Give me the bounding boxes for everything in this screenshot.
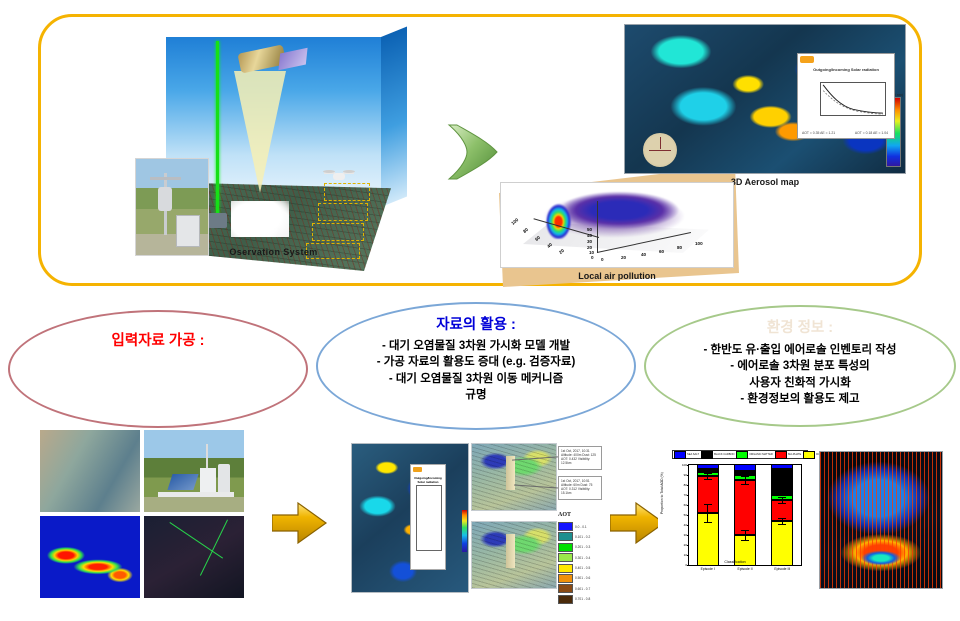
field-instrument-photo	[144, 430, 244, 512]
3d-aerosol-volume-render	[820, 452, 942, 588]
ellipse-body: - 한반도 유·출입 에어로솔 인벤토리 작성 - 에어로솔 3차원 분포 특성…	[646, 342, 954, 407]
x-tick: 60	[659, 249, 664, 254]
chart-error-cap	[778, 503, 786, 504]
ellipse-environmental-information: 환경 정보 : - 한반도 유·출입 에어로솔 인벤토리 작성 - 에어로솔 3…	[644, 305, 956, 427]
x-tick: 0	[601, 257, 604, 262]
chart-bar	[772, 465, 792, 565]
panel-logo-icon	[413, 467, 422, 472]
chart-y-tickmark	[687, 485, 689, 486]
ellipse-body: - 대기 오염물질 3차원 가시화 모델 개발 - 가공 자료의 활용도 증대 …	[318, 338, 634, 403]
inset-footnote-left: AOT = 0.35 AE = 1.21	[802, 131, 835, 135]
lidar-beam	[216, 41, 219, 219]
chart-bar-segment	[772, 521, 792, 565]
atmosphere-box-side	[381, 26, 407, 207]
pollution-volume-surface	[529, 191, 693, 239]
chart-y-tickmark	[687, 515, 689, 516]
aerosol-map-figure: AOT (550 nm) Outgoing/Incoming Solar rad…	[625, 25, 905, 197]
chart-error-cap	[704, 479, 712, 480]
ellipse-line: 사용자 친화적 가시화	[646, 375, 954, 391]
ellipse-line: - 대기 오염물질 3차원 가시화 모델 개발	[318, 338, 634, 354]
legend-swatch	[701, 451, 713, 459]
chart-y-tickmark	[687, 505, 689, 506]
local-air-pollution-image: 50 40 30 20 10 0 100 80 60 40 20 0 20 40…	[501, 183, 733, 267]
legend-swatch	[558, 595, 573, 604]
legend-swatch	[558, 532, 573, 541]
legend-swatch	[674, 451, 686, 459]
z-tick: 0	[591, 255, 594, 260]
chart-legend: SEA SALT BLACK CARBON ORGANIC MATTER SUL…	[672, 450, 808, 459]
input-data-image-grid	[40, 430, 248, 602]
chart-y-axis-label: Proportion to Total AOD (%)	[660, 472, 664, 514]
legend-swatch	[558, 553, 573, 562]
legend-swatch	[775, 451, 787, 459]
chart-y-tickmark	[687, 525, 689, 526]
green-right-arrow	[445, 121, 501, 183]
measurement-tower	[506, 534, 515, 568]
chart-x-tick: Episode II	[737, 567, 752, 571]
satellite-scene-thumbnail	[40, 430, 140, 512]
chart-y-tickmark	[687, 565, 689, 566]
ellipse-line: - 환경정보의 활용도 제고	[646, 391, 954, 407]
measurement-callout-1: 1st Oct, 2017, 10:31 Altitude: 400m Dust…	[558, 446, 602, 470]
chart-error-cap	[741, 530, 749, 531]
chart-error-cap	[704, 473, 712, 474]
aerosol-concentration-map-thumbnail	[40, 516, 140, 598]
chart-y-tickmark	[687, 535, 689, 536]
z-tick: 30	[587, 239, 592, 244]
ellipse-title: 입력자료 가공 :	[10, 329, 306, 350]
legend-item: ORGANIC MATTER	[736, 451, 772, 459]
aerosol-map-image: AOT (550 nm) Outgoing/Incoming Solar rad…	[625, 25, 905, 173]
chart-error-cap	[778, 497, 786, 498]
aod-composition-chart: SEA SALT BLACK CARBON ORGANIC MATTER SUL…	[658, 448, 812, 596]
ground-station-photo	[136, 159, 208, 255]
top-overview-panel: Oservation System	[38, 14, 922, 286]
local-air-pollution-figure: 50 40 30 20 10 0 100 80 60 40 20 0 20 40…	[501, 183, 733, 287]
x-tick: 80	[677, 245, 682, 250]
x-tick: 100	[695, 241, 703, 246]
chart-error-cap	[778, 524, 786, 525]
survey-grid-cell	[324, 183, 370, 201]
chart-plot-area: 0102030405060708090100Episode IEpisode I…	[688, 464, 802, 566]
chart-error-cap	[741, 540, 749, 541]
x-tick: 20	[621, 255, 626, 260]
lidar-instrument-icon	[208, 213, 227, 228]
chart-y-tickmark	[687, 545, 689, 546]
ellipse-line: 규명	[318, 387, 634, 403]
chart-x-axis-label: Classification	[658, 560, 812, 564]
legend-swatch	[558, 564, 573, 573]
local-air-pollution-caption: Local air pollution	[501, 271, 733, 281]
uav-terrain-render-bottom	[472, 522, 556, 588]
ellipse-title: 환경 정보 :	[646, 316, 954, 337]
processed-data-figure-group: Outgoing/Incoming Solar radiation 1st Oc…	[352, 444, 604, 592]
legend-item: 0.701 - 0.8	[558, 595, 604, 604]
legend-item: 0.0 - 0.1	[558, 522, 604, 531]
chart-x-tick: Episode I	[701, 567, 715, 571]
chart-y-tickmark	[687, 495, 689, 496]
panel-title: Outgoing/Incoming Solar radiation	[411, 476, 445, 484]
chart-error-cap	[704, 522, 712, 523]
legend-item: 0.101 - 0.2	[558, 532, 604, 541]
legend-item: 0.501 - 0.6	[558, 574, 604, 583]
map-side-panel: Outgoing/Incoming Solar radiation	[410, 464, 446, 570]
chart-x-tick: Episode III	[774, 567, 790, 571]
observation-system-figure: Oservation System	[136, 33, 411, 265]
uav-terrain-render-top	[472, 444, 556, 510]
x-tick: 40	[641, 252, 646, 257]
legend-swatch	[558, 543, 573, 552]
legend-item: SULPHATE	[775, 451, 802, 459]
chart-error-bar	[745, 530, 746, 540]
y-tick: 20	[558, 248, 565, 255]
z-tick: 50	[587, 227, 592, 232]
lidar-night-observation-thumbnail	[144, 516, 244, 598]
chart-y-tickmark	[687, 475, 689, 476]
inset-logo-icon	[800, 56, 814, 63]
legend-item: 0.301 - 0.4	[558, 553, 604, 562]
inset-plot-title: Outgoing/Incoming Solar radiation	[798, 67, 894, 72]
ellipse-data-utilization: 자료의 활용 : - 대기 오염물질 3차원 가시화 모델 개발 - 가공 자료…	[316, 302, 636, 430]
aot-legend-title: AOT	[558, 512, 571, 518]
slide-canvas: Oservation System	[0, 0, 960, 621]
ellipse-line: - 한반도 유·출입 에어로솔 인벤토리 작성	[646, 342, 954, 358]
survey-grid-cell	[312, 223, 364, 241]
observation-system-caption: Oservation System	[136, 247, 411, 257]
chart-y-tickmark	[687, 555, 689, 556]
pollution-plume	[231, 201, 289, 237]
legend-swatch	[558, 522, 573, 531]
legend-item: BLACK CARBON	[701, 451, 734, 459]
ellipse-title: 자료의 활용 :	[318, 313, 634, 334]
map-colorbar	[462, 510, 467, 552]
legend-item: 0.201 - 0.3	[558, 543, 604, 552]
aot-legend: 0.0 - 0.1 0.101 - 0.2 0.201 - 0.3 0.301 …	[558, 522, 604, 605]
satellite-scan-cone	[234, 71, 286, 193]
ellipse-line: - 에어로솔 3차원 분포 특성의	[646, 358, 954, 374]
drone-icon	[324, 169, 354, 183]
legend-swatch	[736, 451, 748, 459]
inset-footnote-right: AOT = 0.18 AE = 1.04	[855, 131, 888, 135]
z-tick: 40	[587, 233, 592, 238]
legend-item: 0.401 - 0.5	[558, 564, 604, 573]
ellipse-input-data-processing: 입력자료 가공 :	[8, 310, 308, 428]
chart-bar-segment	[772, 469, 792, 495]
chart-error-cap	[704, 504, 712, 505]
chart-error-cap	[741, 476, 749, 477]
legend-item: SEA SALT	[674, 451, 699, 459]
legend-swatch	[558, 574, 573, 583]
chart-error-cap	[778, 518, 786, 519]
chart-y-tickmark	[687, 465, 689, 466]
y-tick: 100	[510, 217, 519, 226]
chart-error-bar	[745, 476, 746, 484]
survey-grid-cell	[318, 203, 368, 221]
ellipse-line: - 가공 자료의 활용도 증대 (e.g. 검증자료)	[318, 354, 634, 370]
chart-error-bar	[707, 504, 708, 522]
chart-error-cap	[741, 484, 749, 485]
ellipse-line: - 대기 오염물질 3차원 이동 메커니즘	[318, 371, 634, 387]
legend-swatch	[558, 584, 573, 593]
compass-rose-icon	[643, 133, 677, 167]
process-arrow-1	[272, 500, 328, 546]
measurement-callout-2: 1st Oct, 2017, 10:51 Altitude: 60m Dust:…	[558, 476, 602, 500]
regional-aot-map: Outgoing/Incoming Solar radiation	[352, 444, 468, 592]
chart-bar-segment	[735, 480, 755, 535]
aerosol-inset-plot: Outgoing/Incoming Solar radiation AOT = …	[797, 53, 895, 139]
legend-swatch	[803, 451, 815, 459]
legend-item: 0.601 - 0.7	[558, 584, 604, 593]
